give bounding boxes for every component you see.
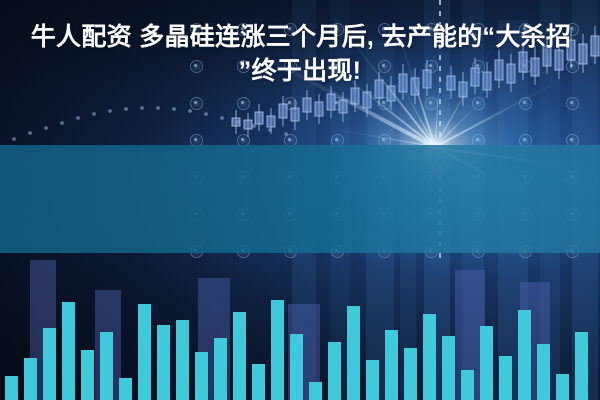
- volume-bar: [290, 334, 303, 400]
- volume-bar-series: [0, 250, 600, 400]
- candle-body: [244, 120, 252, 129]
- volume-bar: [252, 364, 265, 400]
- title-banner: [0, 145, 600, 253]
- volume-bar: [518, 310, 531, 400]
- promo-banner-image: 牛人配资 多晶硅连涨三个月后, 去产能的“大杀招 ”终于出现!: [0, 0, 600, 400]
- banner-sheen: [0, 145, 600, 253]
- volume-bar: [43, 328, 56, 400]
- volume-bar: [480, 326, 493, 400]
- volume-bar: [556, 374, 569, 400]
- volume-bar: [499, 356, 512, 400]
- title-line-2: ”终于出现!: [239, 55, 362, 87]
- volume-bar: [119, 378, 132, 400]
- volume-bar: [176, 320, 189, 400]
- title-line-1: 牛人配资 多晶硅连涨三个月后, 去产能的“大杀招: [29, 21, 572, 53]
- volume-bar: [404, 348, 417, 400]
- volume-bar: [423, 314, 436, 400]
- volume-bar: [214, 338, 227, 400]
- volume-bar: [442, 336, 455, 400]
- volume-bar: [157, 325, 170, 400]
- candle-body: [232, 118, 240, 126]
- volume-bar: [24, 358, 37, 400]
- volume-bar: [233, 312, 246, 400]
- volume-bar: [271, 300, 284, 400]
- volume-bar: [366, 360, 379, 400]
- volume-bar: [5, 376, 18, 400]
- volume-bar: [537, 344, 550, 400]
- volume-bar: [347, 306, 360, 400]
- volume-bar: [461, 370, 474, 400]
- volume-bar: [62, 302, 75, 400]
- volume-bar: [328, 342, 341, 400]
- volume-bar: [309, 382, 322, 400]
- volume-bar: [575, 332, 588, 400]
- volume-bar: [138, 304, 151, 400]
- title-block: 牛人配资 多晶硅连涨三个月后, 去产能的“大杀招 ”终于出现!: [0, 0, 600, 108]
- volume-bar: [385, 330, 398, 400]
- volume-bar: [100, 332, 113, 400]
- volume-bar: [195, 352, 208, 400]
- candle-body: [255, 112, 263, 124]
- volume-bar: [81, 350, 94, 400]
